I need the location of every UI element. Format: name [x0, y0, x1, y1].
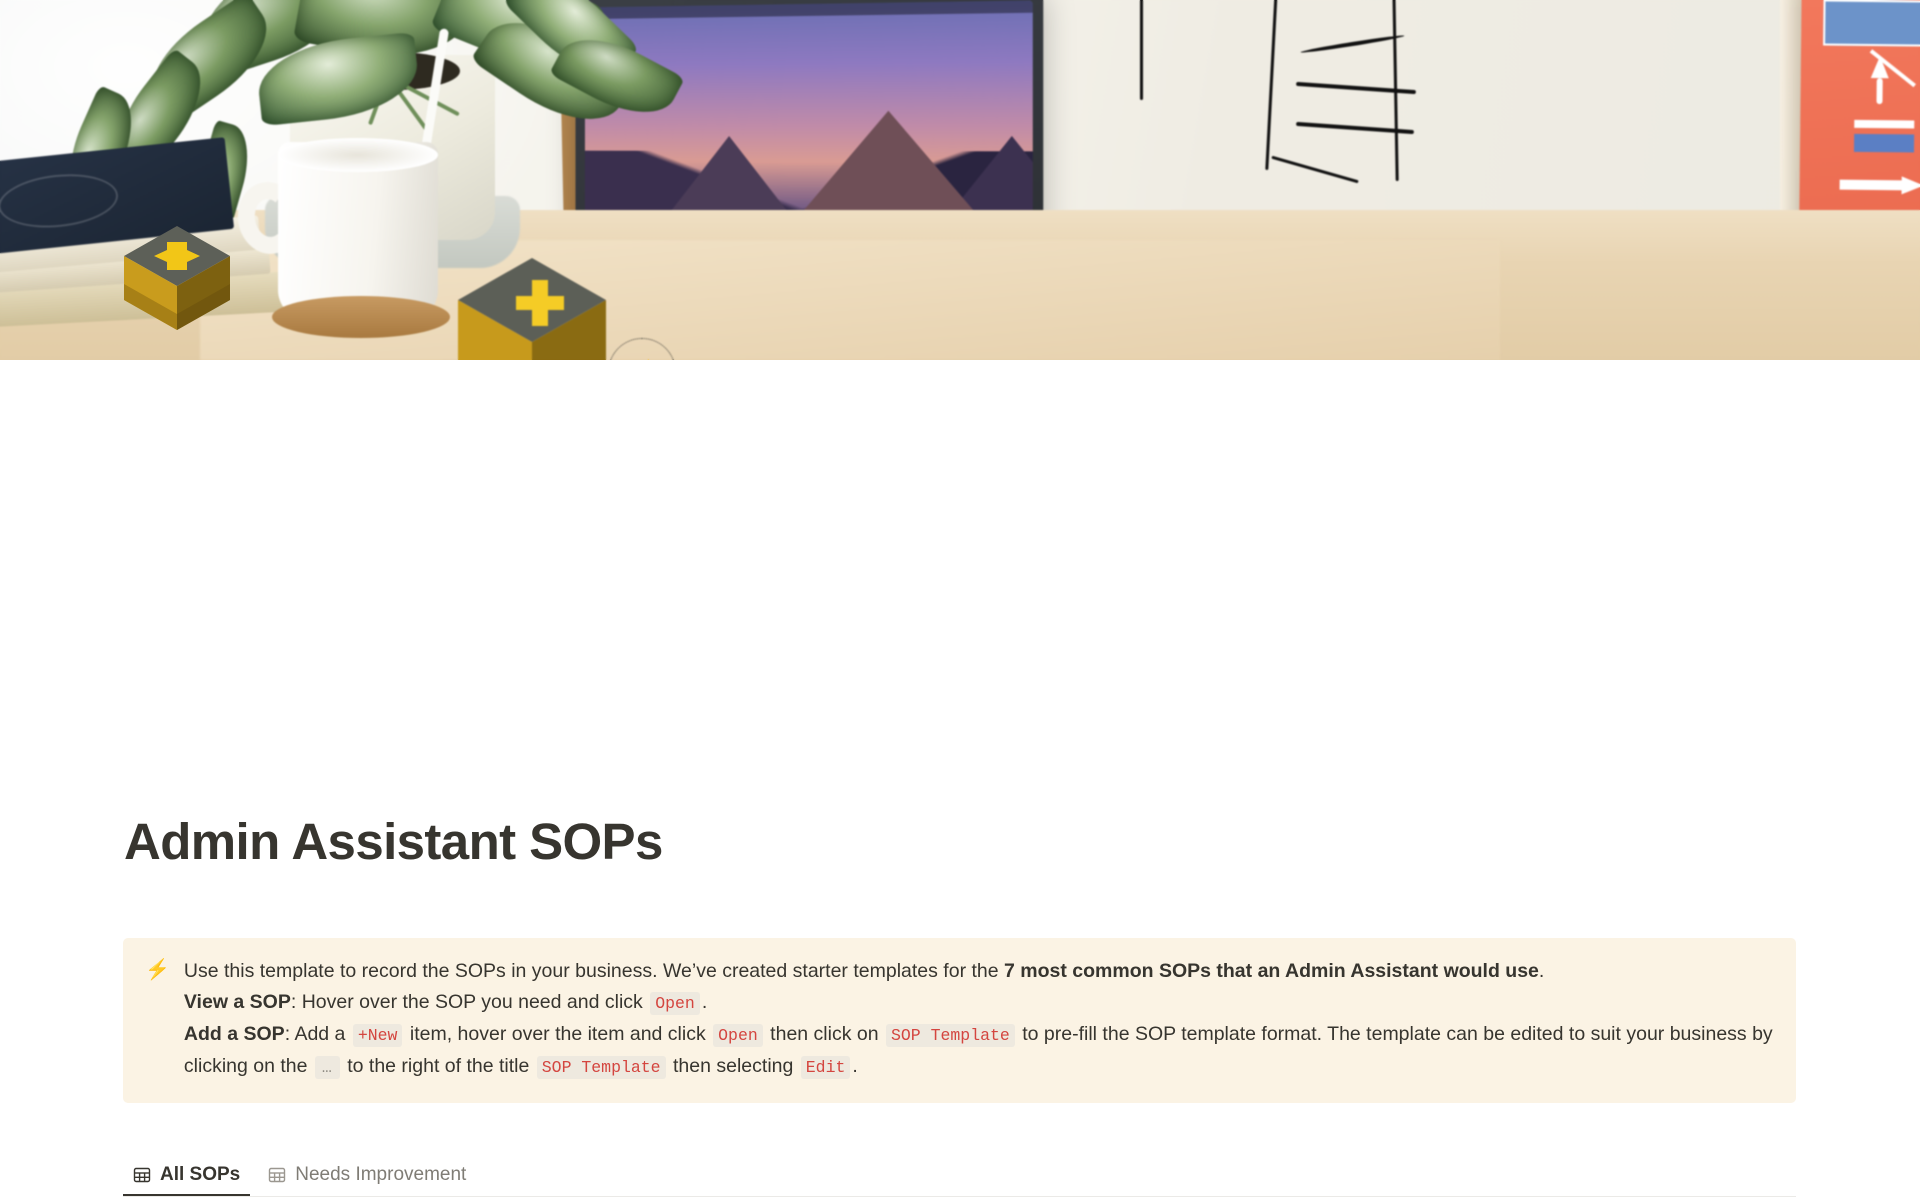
lightning-bolt-icon: ⚡ — [145, 956, 170, 1083]
tab-all-sops[interactable]: All SOPs — [123, 1160, 250, 1196]
callout-line-3: Add a SOP: Add a +New item, hover over t… — [184, 1019, 1774, 1083]
callout-l2-a: : Hover over the SOP you need and click — [291, 991, 648, 1013]
callout-text: Use this template to record the SOPs in … — [184, 956, 1774, 1083]
database-view-tabs: All SOPs Needs Improvement — [123, 1160, 1796, 1197]
tab-all-sops-label: All SOPs — [160, 1164, 240, 1186]
callout-l3-b: item, hover over the item and click — [404, 1023, 711, 1045]
open-code-chip-2[interactable]: Open — [713, 1024, 763, 1047]
callout-l3-g: . — [852, 1055, 857, 1077]
callout-l3-bold: Add a SOP — [184, 1023, 285, 1045]
callout-l1-bold: 7 most common SOPs that an Admin Assista… — [1004, 960, 1539, 982]
tab-needs-improvement-label: Needs Improvement — [295, 1164, 466, 1186]
sop-template-code-chip[interactable]: SOP Template — [886, 1024, 1015, 1047]
open-code-chip[interactable]: Open — [650, 992, 700, 1015]
callout-l2-bold: View a SOP — [184, 991, 291, 1013]
tab-needs-improvement[interactable]: Needs Improvement — [258, 1160, 476, 1196]
cover-blur-layer — [0, 0, 1920, 360]
callout-l1-b: . — [1539, 960, 1544, 982]
callout-line-2: View a SOP: Hover over the SOP you need … — [184, 987, 1774, 1019]
callout-l1-a: Use this template to record the SOPs in … — [184, 960, 1004, 982]
table-grid-icon — [133, 1166, 151, 1184]
page-cover-image[interactable]: ⚡ — [0, 0, 1920, 360]
callout-l3-e: to the right of the title — [342, 1055, 535, 1077]
edit-code-chip[interactable]: Edit — [801, 1056, 851, 1079]
callout-line-1: Use this template to record the SOPs in … — [184, 956, 1774, 987]
callout-l3-c: then click on — [765, 1023, 884, 1045]
sop-template-code-chip-2[interactable]: SOP Template — [537, 1056, 666, 1079]
callout-l3-f: then selecting — [668, 1055, 799, 1077]
callout-l2-b: . — [702, 991, 707, 1013]
new-code-chip[interactable]: +New — [353, 1024, 403, 1047]
page-title[interactable]: Admin Assistant SOPs — [124, 812, 663, 871]
callout-block[interactable]: ⚡ Use this template to record the SOPs i… — [123, 938, 1796, 1103]
table-grid-icon — [268, 1166, 286, 1184]
callout-l3-a: : Add a — [285, 1023, 351, 1045]
yellow-cross-cube-icon[interactable] — [120, 222, 234, 334]
ellipsis-code-chip[interactable]: … — [315, 1056, 340, 1079]
